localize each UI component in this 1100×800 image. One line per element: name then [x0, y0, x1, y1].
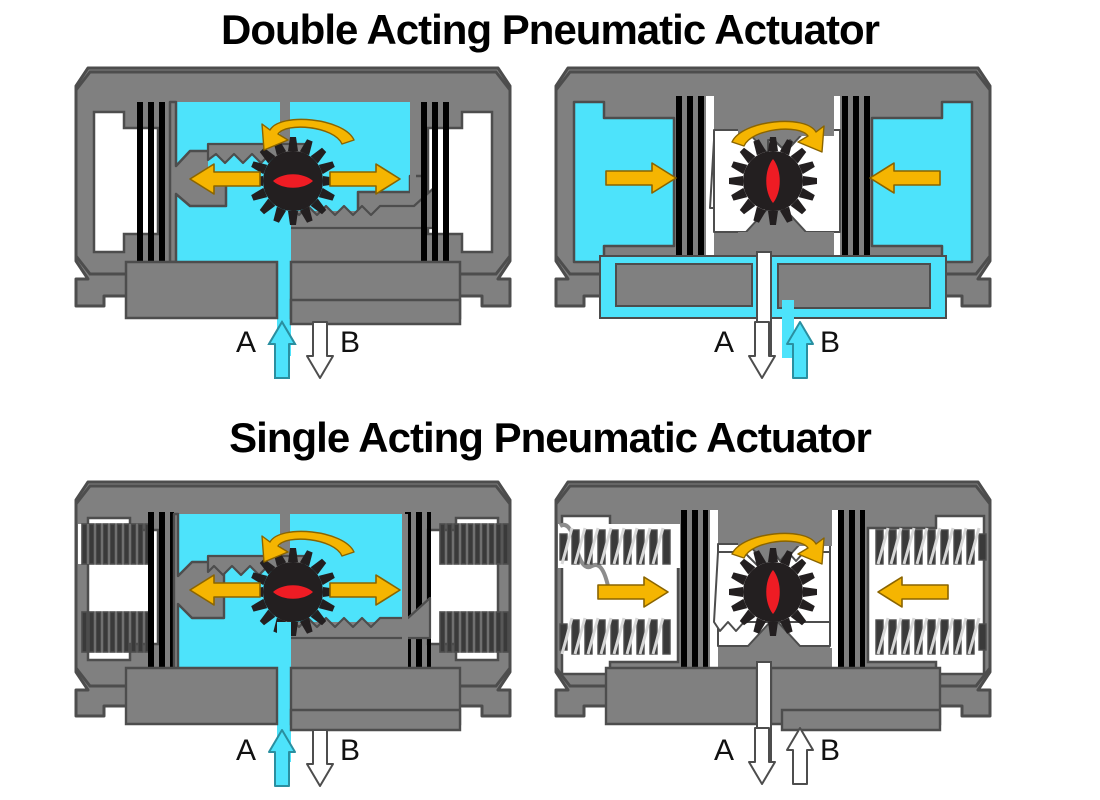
piston-seals-left	[148, 512, 174, 670]
page-title-single-acting: Single Acting Pneumatic Actuator	[0, 414, 1100, 462]
port-a-supply-arrow	[269, 730, 295, 786]
port-b-exhaust-arrow	[307, 322, 333, 378]
port-a-label: A	[236, 326, 256, 359]
diagram-double-acting-air-to-port-b: A B	[538, 56, 1008, 406]
piston-seals-left	[137, 102, 165, 262]
port-b-label: B	[340, 326, 360, 359]
spring-left-lower-extended	[560, 618, 670, 654]
manifold-bottom-left	[606, 668, 757, 724]
pinion-gear	[729, 137, 817, 225]
diagram-double-acting-air-to-port-a: A B	[58, 56, 528, 406]
pinion-gear	[249, 137, 337, 225]
diagram-single-acting-air-to-port-a: A B	[58, 472, 528, 792]
piston-seals-left	[681, 510, 708, 682]
piston-seals-right	[842, 96, 870, 266]
port-b-label: B	[820, 734, 840, 767]
manifold-bottom-left	[126, 668, 277, 724]
manifold-bottom-core-right	[778, 264, 930, 308]
page-title-double-acting: Double Acting Pneumatic Actuator	[0, 6, 1100, 54]
manifold-bottom-core-left	[616, 264, 752, 306]
spring-right-upper-extended	[876, 528, 986, 564]
spring-left-upper	[78, 524, 150, 564]
piston-seals-left	[676, 96, 704, 266]
piston-seals-right	[838, 510, 865, 682]
piston-right	[410, 102, 416, 262]
pinion-gear	[249, 548, 337, 636]
port-a-label: A	[236, 734, 256, 767]
port-b-passage	[782, 710, 940, 730]
port-a-label: A	[714, 326, 734, 359]
port-b-label: B	[340, 734, 360, 767]
port-b-passage	[291, 300, 460, 324]
piston-seals-right	[405, 512, 431, 670]
port-a-label: A	[714, 734, 734, 767]
port-a-supply-arrow	[269, 322, 295, 378]
pinion-gear	[729, 548, 817, 636]
piston-right	[402, 514, 408, 670]
diagram-single-acting-spring-return: A B	[538, 472, 1008, 792]
spring-right-lower-extended	[876, 618, 986, 654]
port-b-exhaust-arrow	[787, 728, 813, 784]
piston-seals-right	[421, 102, 449, 262]
port-b-exhaust-arrow	[307, 730, 333, 786]
port-b-label: B	[820, 326, 840, 359]
port-b-passage	[291, 710, 460, 730]
